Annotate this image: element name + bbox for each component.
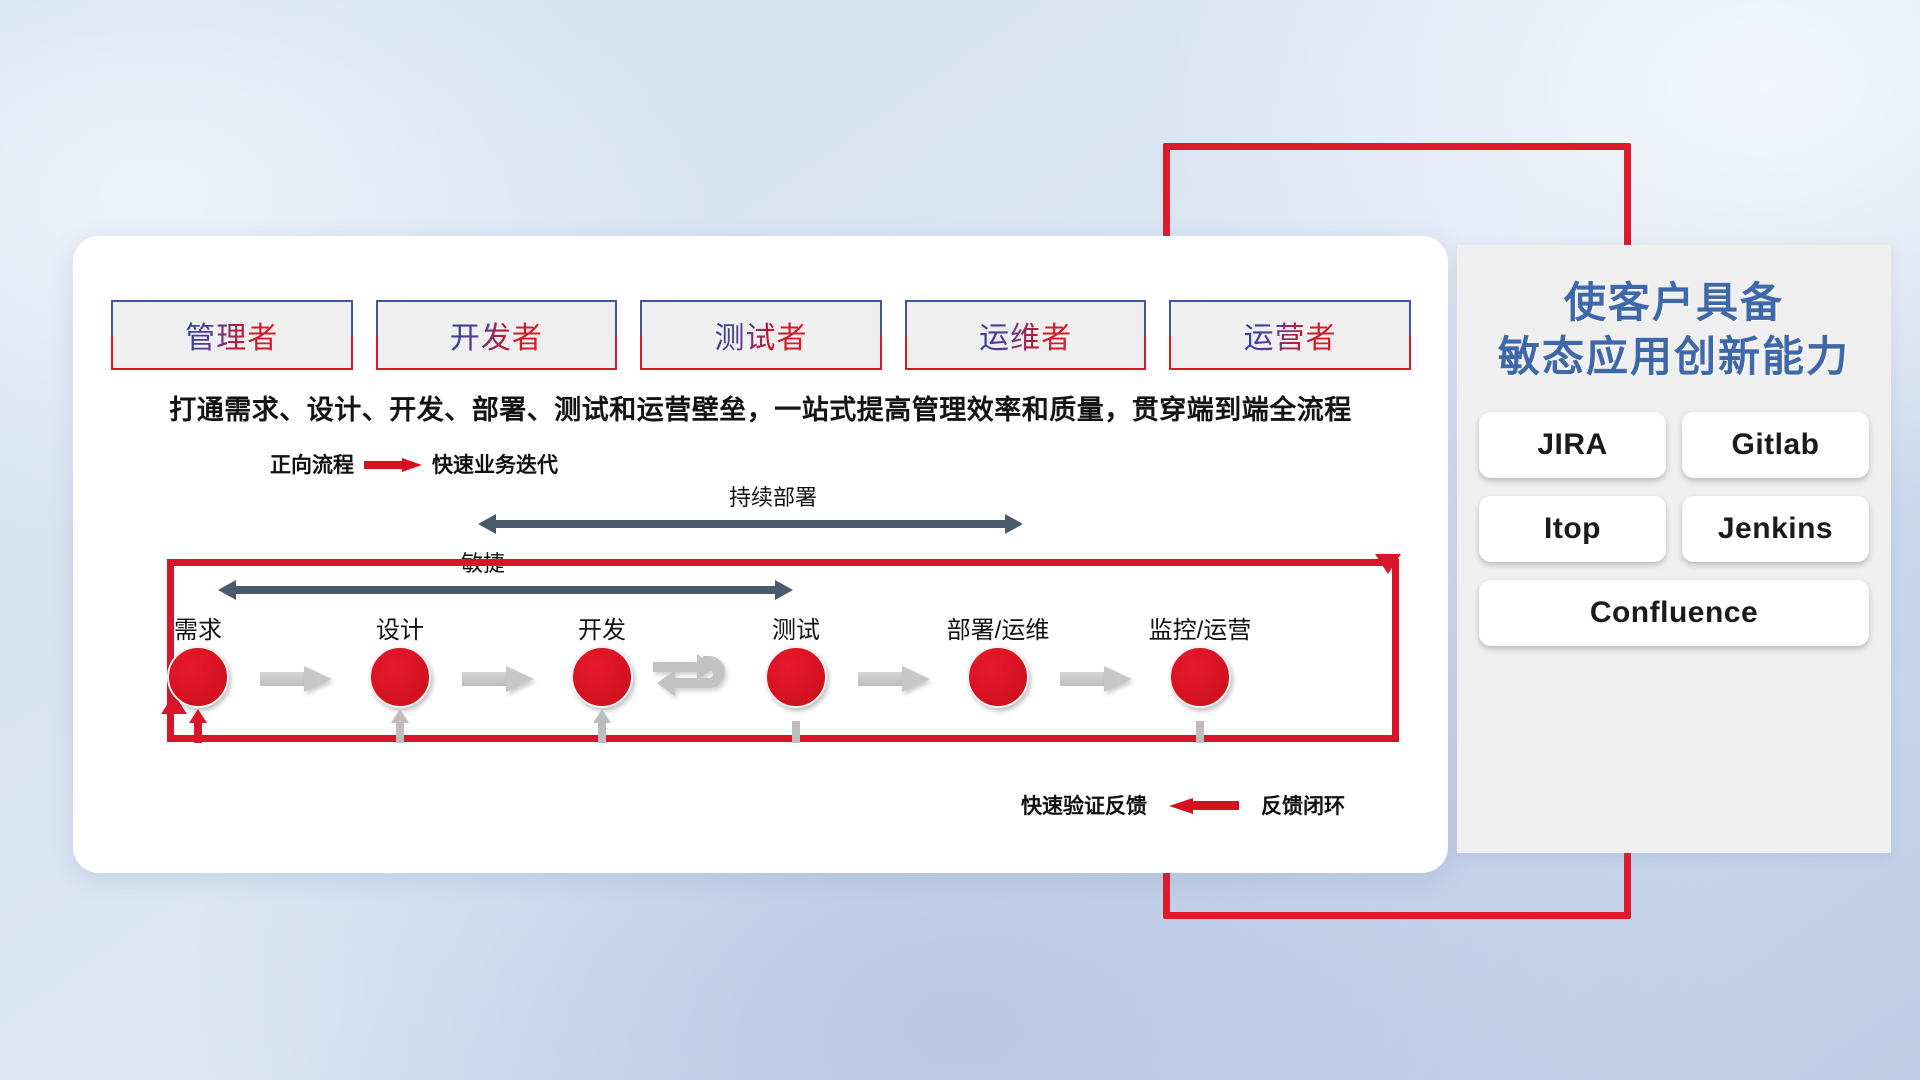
- arrow-left-red-icon: [1169, 798, 1239, 812]
- stage-label: 开发: [578, 610, 626, 645]
- stage-dot-icon: [571, 646, 633, 708]
- pipeline-stage-row: 需求 设计 开发 测试 部署/运维: [133, 614, 1423, 734]
- stage-dot-icon: [167, 646, 229, 708]
- pipeline-loop-arrow-down-icon: [1375, 554, 1401, 574]
- stage-label: 设计: [376, 610, 424, 645]
- toolchain-side-panel: 使客户具备 敏态应用创新能力 JIRA Gitlab Itop Jenkins …: [1457, 245, 1891, 853]
- feed-arrow-up-requirement-icon: [189, 709, 207, 743]
- forward-flow-right-label: 快速业务迭代: [432, 449, 558, 479]
- stage-dot-icon: [1169, 646, 1231, 708]
- role-label: 测试者: [714, 313, 807, 357]
- role-box-developer[interactable]: 开发者: [376, 300, 618, 370]
- role-box-tester[interactable]: 测试者: [640, 300, 882, 370]
- feed-arrow-up-design-icon: [391, 709, 409, 743]
- connector-arrow-right-grey-icon: [462, 666, 534, 692]
- role-label: 管理者: [185, 313, 278, 357]
- stage-dot-icon: [369, 646, 431, 708]
- feed-line-monitor-icon: [1191, 709, 1209, 743]
- tool-chip-confluence[interactable]: Confluence: [1479, 580, 1869, 646]
- tool-chip-gitlab[interactable]: Gitlab: [1682, 412, 1869, 478]
- stage-dot-icon: [967, 646, 1029, 708]
- side-panel-title-line1: 使客户具备: [1457, 245, 1891, 325]
- forward-flow-left-label: 正向流程: [270, 449, 354, 479]
- role-label: 运营者: [1244, 313, 1337, 357]
- main-diagram-card: 管理者 开发者 测试者 运维者 运营者 打通需求、设计、开发、部署、测试和运营壁…: [73, 236, 1448, 873]
- stage-label: 部署/运维: [947, 610, 1050, 645]
- role-box-manager[interactable]: 管理者: [111, 300, 353, 370]
- tool-chip-grid: JIRA Gitlab Itop Jenkins Confluence: [1479, 412, 1869, 646]
- role-label: 开发者: [450, 313, 543, 357]
- connector-arrow-right-grey-icon: [858, 666, 930, 692]
- headline-text: 打通需求、设计、开发、部署、测试和运营壁垒，一站式提高管理效率和质量，贯穿端到端…: [73, 388, 1448, 427]
- tool-chip-itop[interactable]: Itop: [1479, 496, 1666, 562]
- feed-arrow-up-development-icon: [593, 709, 611, 743]
- feedback-right-label: 反馈闭环: [1261, 790, 1345, 820]
- feed-line-testing-icon: [787, 709, 805, 743]
- stage-label: 需求: [174, 610, 222, 645]
- stage-label: 测试: [772, 610, 820, 645]
- connector-arrow-right-grey-icon: [1060, 666, 1132, 692]
- feedback-annotation: 快速验证反馈 反馈闭环: [1021, 790, 1345, 820]
- stage-label: 监控/运营: [1149, 610, 1252, 645]
- tool-chip-jira[interactable]: JIRA: [1479, 412, 1666, 478]
- span-label-continuous-deployment: 持续部署: [613, 480, 933, 512]
- arrow-right-red-icon: [364, 458, 422, 470]
- stage-dot-icon: [765, 646, 827, 708]
- role-label: 运维者: [979, 313, 1072, 357]
- forward-flow-annotation: 正向流程 快速业务迭代: [270, 449, 558, 479]
- role-box-ops[interactable]: 运维者: [905, 300, 1147, 370]
- side-panel-title-line2: 敏态应用创新能力: [1457, 325, 1891, 388]
- feedback-left-label: 快速验证反馈: [1021, 790, 1147, 820]
- role-box-operations[interactable]: 运营者: [1169, 300, 1411, 370]
- loopback-uturn-icon: [653, 654, 731, 712]
- role-box-row: 管理者 开发者 测试者 运维者 运营者: [111, 300, 1411, 370]
- connector-arrow-right-grey-icon: [260, 666, 332, 692]
- tool-chip-jenkins[interactable]: Jenkins: [1682, 496, 1869, 562]
- side-panel-title: 使客户具备 敏态应用创新能力: [1457, 245, 1891, 388]
- double-arrow-continuous-deployment-icon: [478, 514, 1023, 534]
